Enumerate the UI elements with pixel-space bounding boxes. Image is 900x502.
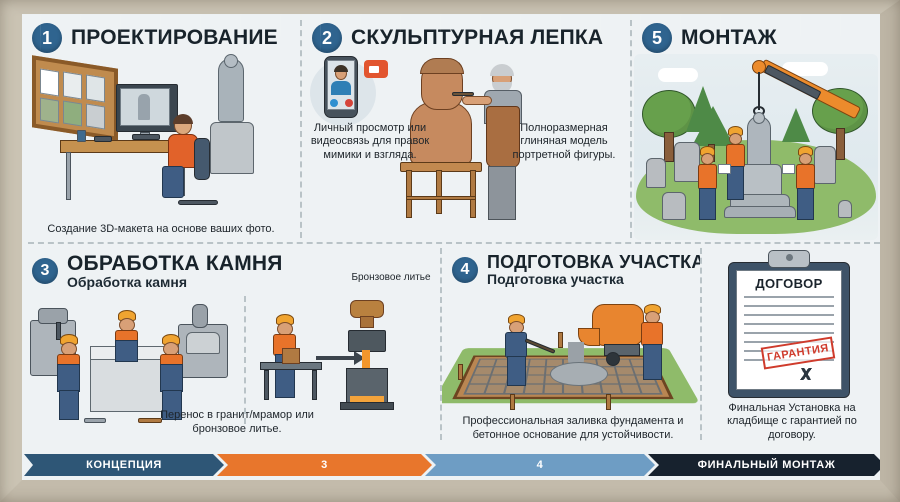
- panel-sculpting[interactable]: 2 СКУЛЬПТУРНАЯ ЛЕПКА: [302, 14, 630, 242]
- monument-pedestal: [738, 164, 782, 198]
- panel-4-caption: Профессиональная заливка фундамента и бе…: [446, 415, 700, 442]
- crane-cable: [758, 72, 760, 110]
- designer-legs: [162, 166, 184, 198]
- polisher-head: [192, 304, 208, 328]
- contract-title: ДОГОВОР: [736, 276, 842, 291]
- worker-legs: [699, 188, 716, 220]
- clipboard-clip-hole: [786, 254, 793, 261]
- granite-block: [90, 358, 166, 412]
- signature-mark: [788, 368, 824, 380]
- pouring-funnel: [348, 330, 386, 352]
- mason-overalls: [115, 340, 138, 362]
- poster-board: 1 ПРОЕКТИРОВАНИЕ: [22, 14, 880, 480]
- ribbon-segment-3[interactable]: 3: [217, 454, 432, 476]
- statue-pedestal: [210, 122, 254, 174]
- chair-base: [178, 200, 218, 205]
- mason-overalls: [160, 364, 183, 392]
- foundry-table-leg: [312, 370, 317, 400]
- ribbon-label: 3: [321, 459, 328, 471]
- stool-leg: [470, 170, 476, 218]
- infographic-poster: 1 ПРОЕКТИРОВАНИЕ: [0, 0, 900, 502]
- ribbon-segment-concept[interactable]: КОНЦЕПЦИЯ: [24, 454, 224, 476]
- headstone: [646, 158, 666, 188]
- stool-leg: [436, 170, 442, 214]
- stool-leg: [406, 170, 412, 218]
- panel-5-number-badge: 5: [642, 23, 672, 53]
- ribbon-label: 4: [537, 459, 544, 471]
- sculptor-hair: [490, 64, 514, 76]
- panel-4-illustration: [446, 302, 696, 424]
- clay-bust-hair: [420, 58, 464, 74]
- sculptor-arm: [462, 96, 492, 105]
- panel-3-title: ОБРАБОТКА КАМНЯ: [67, 253, 283, 274]
- formwork-stake: [510, 394, 515, 410]
- rough-stone-block: [186, 332, 220, 354]
- divider-h-1: [28, 242, 880, 244]
- divider-v-2: [630, 20, 632, 238]
- mason-overalls: [57, 364, 80, 392]
- screen-statue-preview: [138, 94, 150, 120]
- stool-crossbar: [406, 196, 476, 200]
- site-worker-vest: [641, 322, 663, 346]
- panel-4-subtitle: Подготовка участка: [487, 272, 700, 286]
- panel-5-header: 5 МОНТАЖ: [632, 14, 880, 55]
- panel-6-caption: Финальная Установка на кладбище с гарант…: [704, 402, 880, 442]
- site-worker-legs: [507, 356, 526, 386]
- headstone: [814, 146, 836, 184]
- panel-6-illustration: ДОГОВОР ГАРАНТИЯ: [718, 250, 866, 400]
- panel-site-preparation[interactable]: 4 ПОДГОТОВКА УЧАСТКА Подготовка участка: [442, 244, 700, 440]
- chisel-tool: [84, 418, 106, 423]
- office-chair: [194, 138, 210, 180]
- ribbon-label: КОНЦЕПЦИЯ: [86, 459, 162, 471]
- divider-v-3: [440, 248, 442, 440]
- mixer-wheel: [606, 352, 620, 366]
- panel-3-header: 3 ОБРАБОТКА КАМНЯ Обработка камня: [22, 244, 440, 292]
- ribbon-segment-4[interactable]: 4: [425, 454, 655, 476]
- panel-1-caption: Создание 3D-макета на основе ваших фото.: [28, 223, 294, 236]
- panel-2-header: 2 СКУЛЬПТУРНАЯ ЛЕПКА: [302, 14, 630, 55]
- sculptor-legs: [488, 166, 516, 220]
- photo-thumb: [40, 97, 59, 123]
- call-accept-button[interactable]: [330, 99, 338, 107]
- ribbon-label: ФИНАЛЬНЫЙ МОНТАЖ: [698, 459, 836, 471]
- monument-figure-head: [753, 112, 765, 124]
- photo-thumb: [63, 100, 82, 126]
- bronze-mold-piece: [282, 348, 300, 364]
- worker-clipboard: [718, 164, 731, 174]
- photo-thumb: [63, 71, 82, 99]
- pine-tree: [782, 108, 810, 142]
- monument-base: [724, 206, 796, 218]
- call-end-button[interactable]: [345, 99, 353, 107]
- sculpting-tool: [452, 92, 474, 96]
- pen-cup: [77, 130, 86, 142]
- panel-3-number-badge: 3: [32, 258, 58, 284]
- keyboard: [132, 134, 160, 140]
- panel-3-subtitle: Обработка камня: [67, 275, 283, 289]
- panel-1-illustration: [22, 52, 300, 232]
- formwork-stake: [606, 394, 611, 410]
- panel-5-title: МОНТАЖ: [681, 27, 777, 48]
- bronze-crucible-neck: [360, 316, 374, 328]
- panel-4-title: ПОДГОТОВКА УЧАСТКА: [487, 253, 700, 271]
- panel-2-caption-right: Полноразмерная глиняная модель портретно…: [502, 122, 626, 162]
- tree-trunk: [836, 128, 845, 160]
- molten-bronze-stream: [362, 350, 370, 370]
- panel-stone-processing[interactable]: 3 ОБРАБОТКА КАМНЯ Обработка камня: [22, 244, 440, 440]
- photo-thumb: [40, 68, 59, 96]
- panel-3-caption: Перенос в гранит/мрамор или бронзовое ли…: [132, 409, 342, 436]
- pine-tree: [692, 106, 734, 146]
- worker-vest: [698, 164, 717, 190]
- panel-1-title: ПРОЕКТИРОВАНИЕ: [71, 27, 278, 48]
- ribbon-segment-final[interactable]: ФИНАЛЬНЫЙ МОНТАЖ: [648, 454, 880, 476]
- progress-ribbon: КОНЦЕПЦИЯ 3 4 ФИНАЛЬНЫЙ МОНТАЖ: [22, 450, 880, 480]
- cnc-arm: [38, 308, 68, 324]
- panel-2-title: СКУЛЬПТУРНАЯ ЛЕПКА: [351, 27, 603, 48]
- photo-thumb: [86, 74, 105, 102]
- panel-projecting[interactable]: 1 ПРОЕКТИРОВАНИЕ: [22, 14, 300, 242]
- cloud: [658, 68, 698, 82]
- panel-1-header: 1 ПРОЕКТИРОВАНИЕ: [22, 14, 300, 55]
- site-worker-overalls: [505, 332, 527, 358]
- statue-head: [224, 54, 238, 68]
- formwork-stake: [558, 332, 563, 348]
- mason-legs: [59, 390, 79, 420]
- panel-1-number-badge: 1: [32, 23, 62, 53]
- panel-5-illustration: [634, 54, 878, 240]
- headstone: [662, 192, 686, 220]
- site-worker-legs: [643, 344, 662, 380]
- panel-3-bronze-label: Бронзовое литье: [348, 272, 434, 284]
- headstone: [674, 142, 700, 182]
- headstone: [838, 200, 852, 218]
- worker-legs: [797, 188, 814, 220]
- worker-vest: [796, 164, 815, 190]
- panel-2-caption-left: Личный просмотр или видеосвязь для право…: [306, 122, 434, 162]
- panel-4-header: 4 ПОДГОТОВКА УЧАСТКА Подготовка участка: [442, 244, 700, 289]
- designer-hair: [173, 114, 193, 124]
- tablet-device: [94, 136, 112, 142]
- caller-hair: [334, 65, 348, 72]
- concrete-puddle: [550, 362, 608, 386]
- panel-2-number-badge: 2: [312, 23, 342, 53]
- caller-shirt: [331, 81, 351, 95]
- panel-3-illustration-stone: [26, 302, 234, 426]
- panel-4-number-badge: 4: [452, 257, 478, 283]
- worker-clipboard: [782, 164, 795, 174]
- mold-base: [340, 402, 394, 410]
- panel-installation[interactable]: 5 МОНТАЖ: [632, 14, 880, 242]
- photo-thumb: [86, 103, 105, 129]
- tree-trunk: [664, 132, 674, 162]
- divider-v-4: [700, 248, 702, 440]
- panel-3-divider: [244, 296, 246, 424]
- desk-leg: [66, 152, 71, 200]
- divider-v-1: [300, 20, 302, 238]
- video-camera-icon: [369, 66, 379, 73]
- foundry-table-leg: [264, 370, 269, 400]
- formwork-stake: [458, 364, 463, 380]
- process-arrow: [316, 356, 356, 360]
